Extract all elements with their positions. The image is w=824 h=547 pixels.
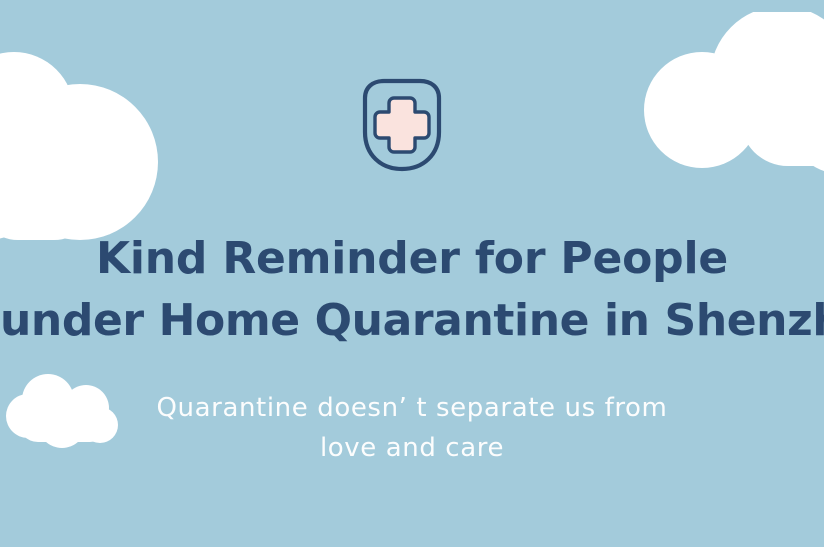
page-title: Kind Reminder for People under Home Quar… bbox=[0, 228, 824, 352]
subtitle-line-1: Quarantine doesn’ t separate us from bbox=[0, 388, 824, 428]
subtitle-line-2: love and care bbox=[0, 428, 824, 468]
title-line-2: under Home Quarantine in Shenzhen bbox=[0, 290, 824, 352]
cloud-icon-top-right bbox=[630, 12, 824, 192]
cloud-icon-top-left bbox=[0, 34, 182, 244]
page-subtitle: Quarantine doesn’ t separate us from lov… bbox=[0, 388, 824, 468]
health-shield-icon bbox=[360, 76, 444, 176]
title-line-1: Kind Reminder for People bbox=[0, 228, 824, 290]
poster-canvas: Kind Reminder for People under Home Quar… bbox=[0, 0, 824, 547]
